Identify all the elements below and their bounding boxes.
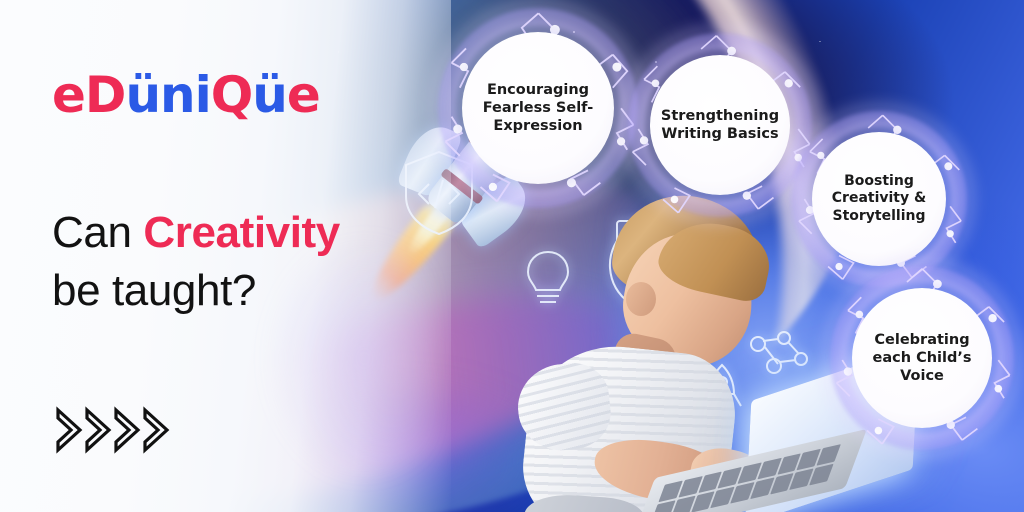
logo-segment-u1: ü [125, 66, 160, 124]
logo-segment-e2: e [287, 66, 320, 124]
headline-prefix: Can [52, 208, 143, 257]
logo-segment-ni: ni [160, 66, 211, 124]
headline-line-2: be taught? [52, 262, 412, 320]
bubble-label: Boosting Creativity & Storytelling [812, 173, 946, 226]
feature-bubble-celebrating-each-childs-voice[interactable]: Celebrating each Child’s Voice [852, 288, 992, 428]
feature-bubble-encouraging-fearless-self-expression[interactable]: Encouraging Fearless Self-Expression [462, 32, 614, 184]
bubble-label: Encouraging Fearless Self-Expression [462, 81, 614, 136]
double-chevron-right-icon [54, 404, 178, 456]
content-column: eDüniQüe Can Creativity be taught? [52, 0, 412, 512]
page-title: Can Creativity be taught? [52, 204, 412, 320]
headline-accent-word: Creativity [143, 208, 340, 257]
bubble-label: Celebrating each Child’s Voice [852, 331, 992, 386]
edunique-logo[interactable]: eDüniQüe [52, 70, 320, 120]
bubble-label: Strengthening Writing Basics [650, 107, 790, 144]
logo-segment-q: Q [211, 66, 253, 124]
feature-bubble-strengthening-writing-basics[interactable]: Strengthening Writing Basics [650, 55, 790, 195]
boy-ear [626, 282, 656, 316]
logo-segment-u2: ü [252, 66, 287, 124]
feature-bubble-boosting-creativity-storytelling[interactable]: Boosting Creativity & Storytelling [812, 132, 946, 266]
logo-segment-e1: e [52, 66, 85, 124]
headline-line-1: Can Creativity [52, 204, 412, 262]
logo-segment-d: D [85, 66, 126, 124]
edunique-creativity-banner: eDüniQüe Can Creativity be taught? [0, 0, 1024, 512]
